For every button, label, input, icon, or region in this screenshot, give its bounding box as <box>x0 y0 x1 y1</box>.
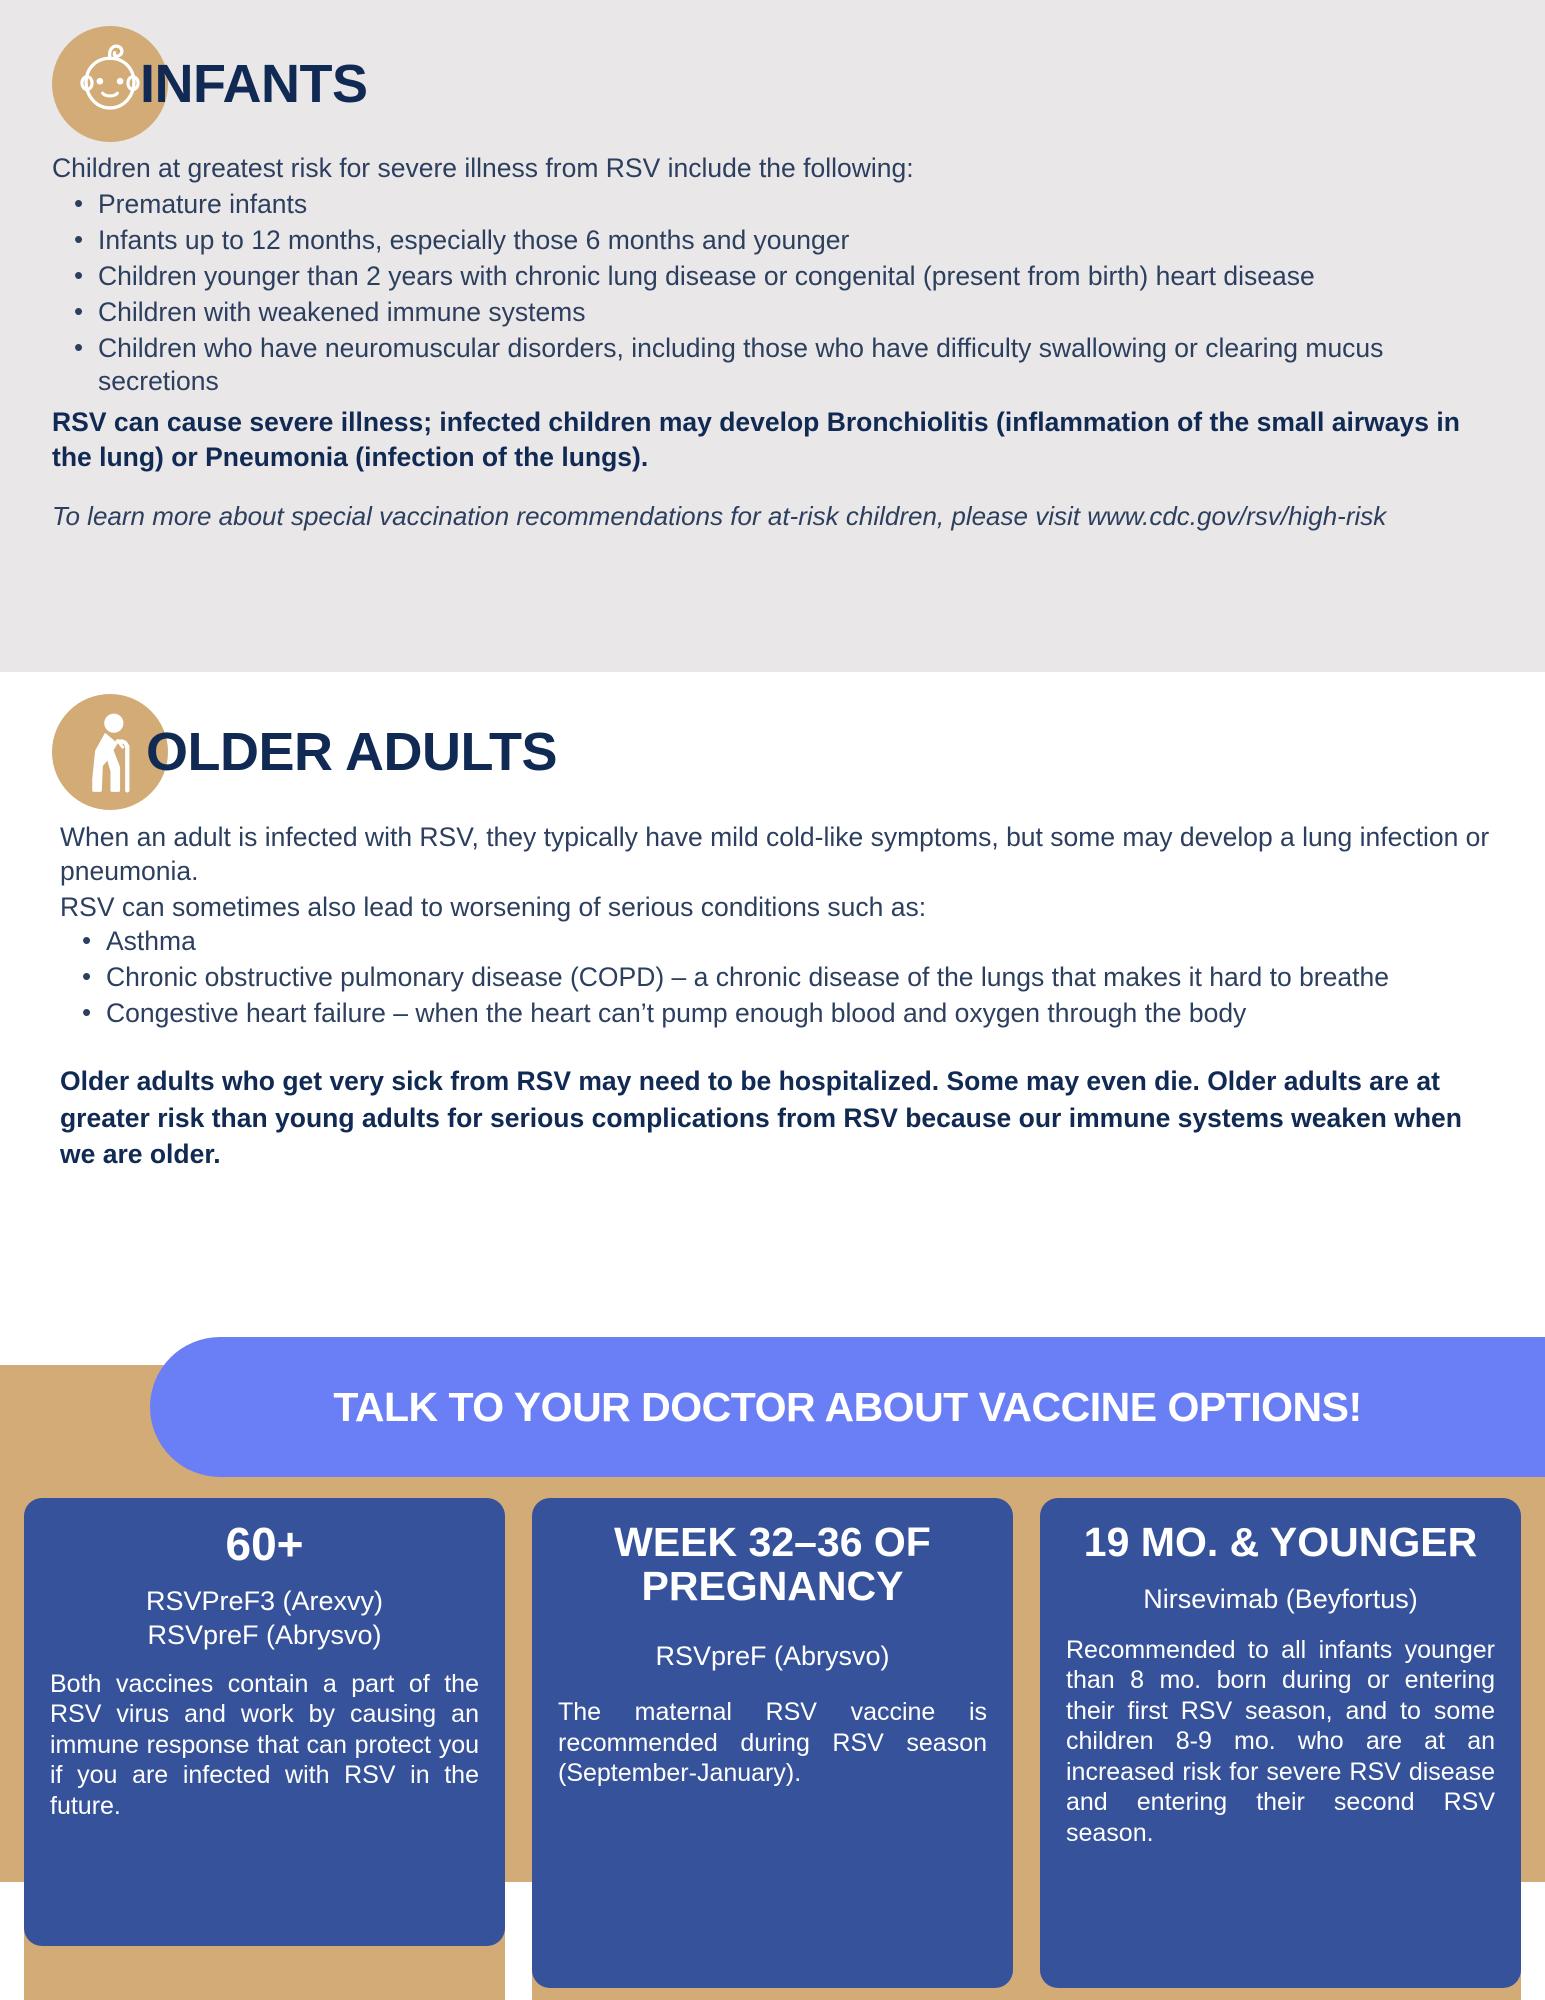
older-adults-condition-list: Asthma Chronic obstructive pulmonary dis… <box>60 925 1493 1031</box>
list-item: Congestive heart failure – when the hear… <box>60 997 1493 1031</box>
infants-bold-note: RSV can cause severe illness; infected c… <box>52 405 1493 474</box>
vaccine-card-drugs: Nirsevimab (Beyfortus) <box>1066 1582 1495 1617</box>
decorative-strip-right <box>1521 1882 1545 2000</box>
vaccine-card-drugs: RSVPreF3 (Arexvy) RSVpreF (Abrysvo) <box>50 1584 479 1653</box>
vaccine-options-panel: TALK TO YOUR DOCTOR ABOUT VACCINE OPTION… <box>0 1365 1545 2000</box>
page-title-older-adults: OLDER ADULTS <box>146 725 557 779</box>
list-item: Chronic obstructive pulmonary disease (C… <box>60 961 1493 995</box>
vaccine-card-description: Both vaccines contain a part of the RSV … <box>50 1669 479 1822</box>
infants-lead: Children at greatest risk for severe ill… <box>52 152 1493 186</box>
decorative-strip-left <box>0 1882 24 2000</box>
cta-banner: TALK TO YOUR DOCTOR ABOUT VACCINE OPTION… <box>150 1337 1545 1477</box>
infants-risk-list: Premature infants Infants up to 12 month… <box>52 188 1493 399</box>
vaccine-drug-name: RSVPreF3 (Arexvy) <box>50 1584 479 1619</box>
vaccine-card-title: WEEK 32–36 OF PREGNANCY <box>558 1520 987 1609</box>
vaccine-card-title: 60+ <box>50 1520 479 1570</box>
infants-header: INFANTS <box>52 26 1493 142</box>
vaccine-card-description: The maternal RSV vaccine is recommended … <box>558 1697 987 1789</box>
vaccine-card-title: 19 MO. & YOUNGER <box>1066 1520 1495 1564</box>
list-item: Premature infants <box>52 188 1493 222</box>
infants-italic-note: To learn more about special vaccination … <box>52 500 1493 534</box>
list-item: Children younger than 2 years with chron… <box>52 260 1493 294</box>
older-adults-body: When an adult is infected with RSV, they… <box>52 820 1493 1173</box>
older-adults-section: OLDER ADULTS When an adult is infected w… <box>0 672 1545 1332</box>
older-adults-header: OLDER ADULTS <box>52 694 1493 810</box>
vaccine-cards-row: 60+ RSVPreF3 (Arexvy) RSVpreF (Abrysvo) … <box>24 1498 1521 1988</box>
page-title-infants: INFANTS <box>140 57 368 111</box>
list-item: Asthma <box>60 925 1493 959</box>
older-adults-bold-note: Older adults who get very sick from RSV … <box>60 1063 1493 1173</box>
older-adults-para-2: RSV can sometimes also lead to worsening… <box>60 890 1493 924</box>
infants-body: Children at greatest risk for severe ill… <box>52 152 1493 534</box>
list-item: Infants up to 12 months, especially thos… <box>52 224 1493 258</box>
vaccine-card-drugs: RSVpreF (Abrysvo) <box>558 1639 987 1674</box>
vaccine-drug-name: RSVpreF (Abrysvo) <box>50 1618 479 1653</box>
list-item: Children with weakened immune systems <box>52 296 1493 330</box>
list-item: Children who have neuromuscular disorder… <box>52 332 1493 400</box>
vaccine-card-pregnancy: WEEK 32–36 OF PREGNANCY RSVpreF (Abrysvo… <box>532 1498 1013 1988</box>
older-adults-para-1: When an adult is infected with RSV, they… <box>60 820 1493 889</box>
infants-section: INFANTS Children at greatest risk for se… <box>0 0 1545 672</box>
vaccine-card-description: Recommended to all infants younger than … <box>1066 1635 1495 1849</box>
vaccine-card-19-months: 19 MO. & YOUNGER Nirsevimab (Beyfortus) … <box>1040 1498 1521 1988</box>
cta-banner-text: TALK TO YOUR DOCTOR ABOUT VACCINE OPTION… <box>333 1384 1361 1431</box>
vaccine-card-60-plus: 60+ RSVPreF3 (Arexvy) RSVpreF (Abrysvo) … <box>24 1498 505 1946</box>
